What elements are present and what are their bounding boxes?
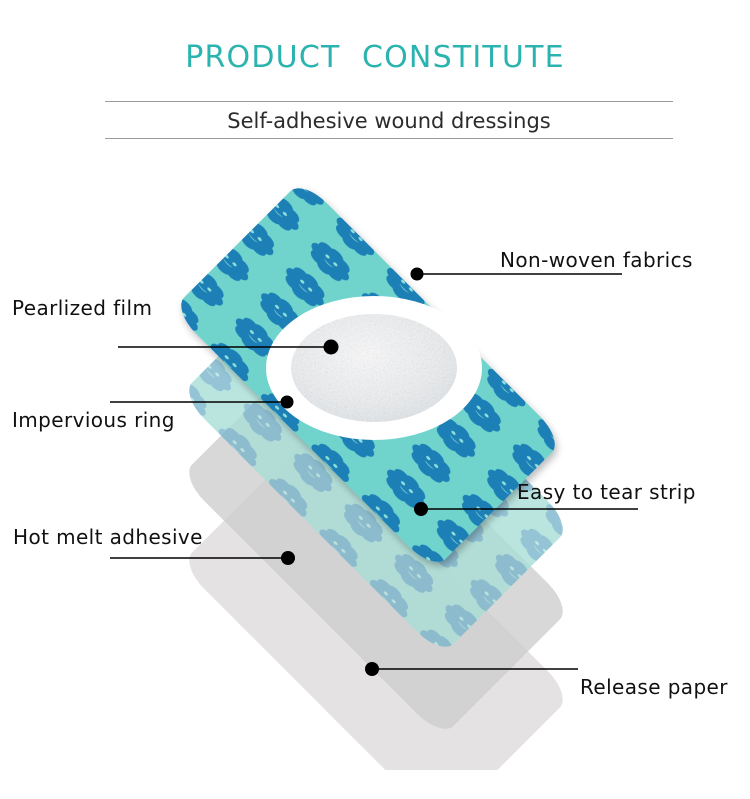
- callout-easy-to-tear-strip: Easy to tear strip: [517, 480, 696, 504]
- dot-release-paper: [365, 662, 379, 676]
- product-layer-diagram: Non-woven fabrics Pearlized film Impervi…: [0, 170, 750, 770]
- dot-pearlized-film: [324, 340, 339, 355]
- callout-release-paper: Release paper: [580, 675, 728, 699]
- dot-hot-melt-adhesive: [281, 551, 295, 565]
- page-subtitle: Self-adhesive wound dressings: [105, 102, 673, 140]
- page-title: PRODUCT CONSTITUTE: [0, 40, 750, 75]
- dot-non-woven-fabrics: [411, 268, 424, 281]
- callout-impervious-ring: Impervious ring: [12, 408, 175, 432]
- callout-hot-melt-adhesive: Hot melt adhesive: [13, 525, 203, 549]
- dot-impervious-ring: [281, 396, 294, 409]
- dot-easy-to-tear-strip: [414, 502, 428, 516]
- callout-non-woven-fabrics: Non-woven fabrics: [500, 248, 693, 272]
- subtitle-rule-block: Self-adhesive wound dressings: [105, 101, 673, 139]
- absorbent-pad-group: [266, 296, 482, 440]
- non-woven-pad: [291, 314, 457, 422]
- callout-pearlized-film: Pearlized film: [12, 296, 152, 320]
